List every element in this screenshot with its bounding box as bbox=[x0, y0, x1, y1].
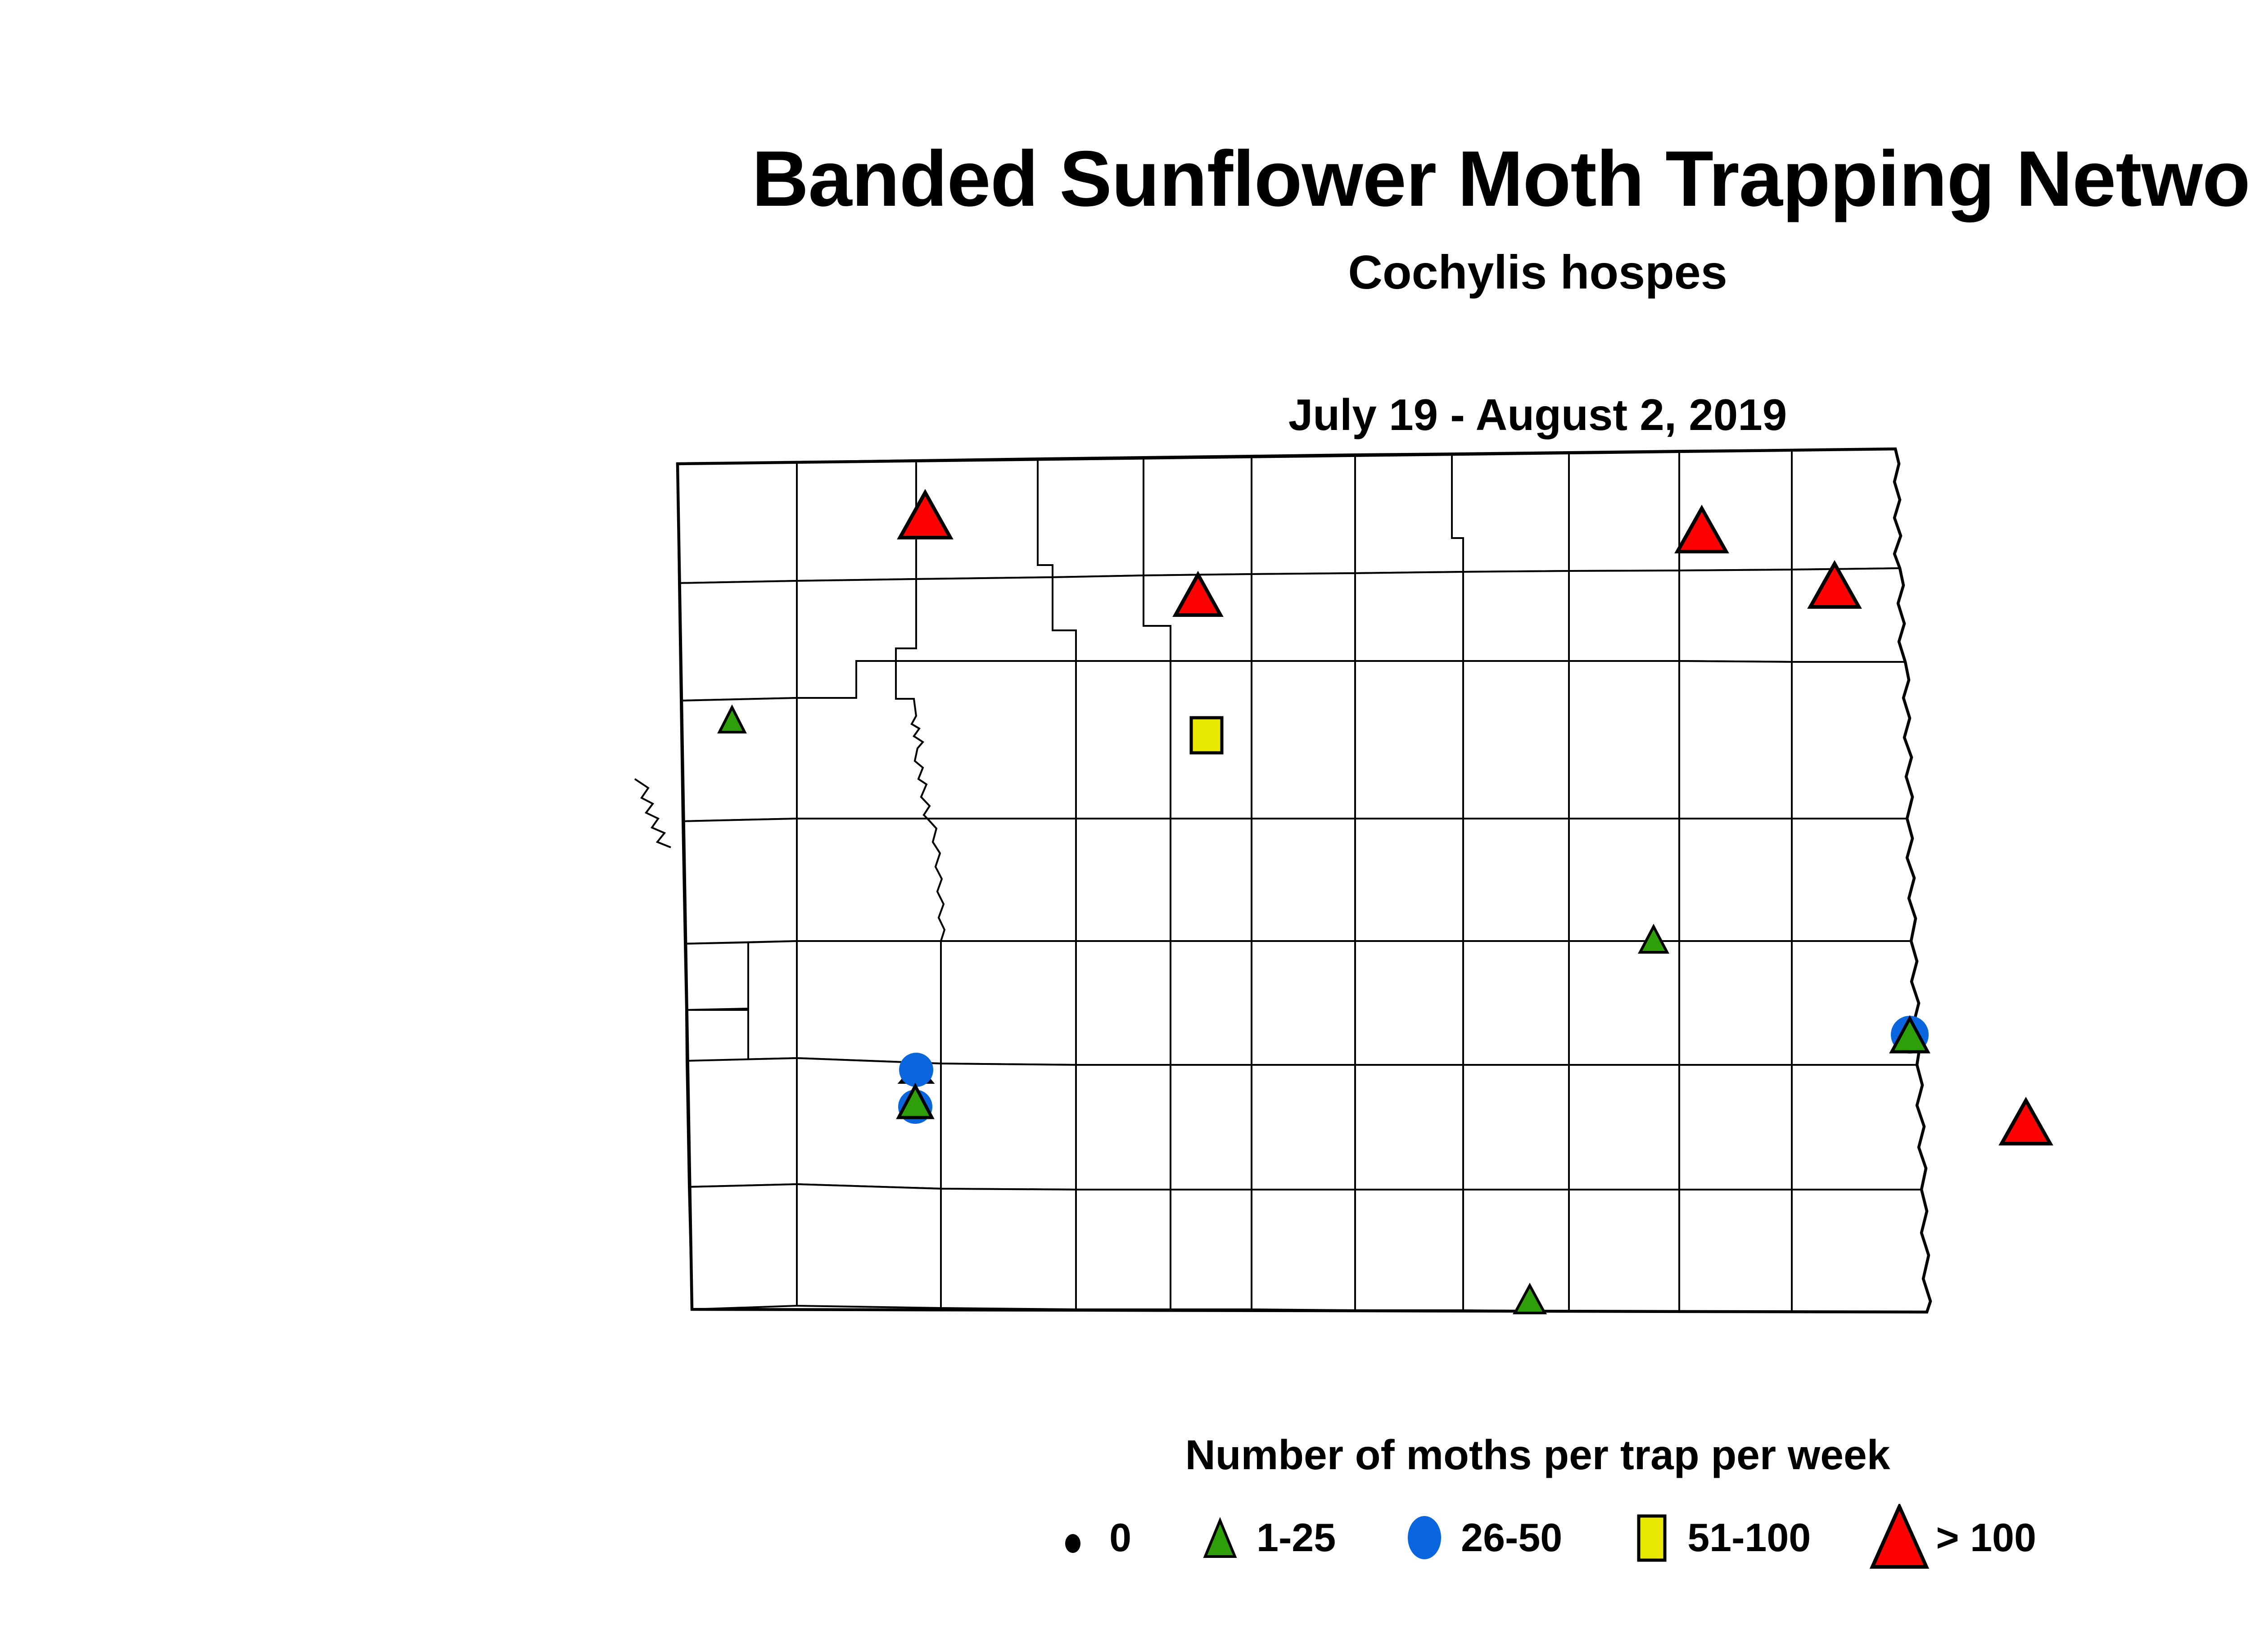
triangle-large-icon bbox=[1866, 1504, 1933, 1571]
legend-item-over-100[interactable]: > 100 bbox=[1866, 1504, 2036, 1571]
trap-marker-yellow-central[interactable] bbox=[1189, 716, 1224, 755]
north-dakota-county-map bbox=[581, 446, 2165, 1418]
poster-canvas: Banded Sunflower Moth Trapping Network C… bbox=[0, 0, 2251, 1652]
triangle-small-icon bbox=[1186, 1515, 1254, 1560]
legend-item-0[interactable]: 0 bbox=[1039, 1515, 1131, 1561]
species-name: Cochylis hospes bbox=[0, 249, 2251, 296]
legend-item-26-50[interactable]: 26-50 bbox=[1391, 1513, 1562, 1562]
trap-marker-red-nw[interactable] bbox=[898, 491, 952, 539]
square-icon bbox=[1617, 1512, 1685, 1563]
legend-title: Number of moths per trap per week bbox=[0, 1434, 2251, 1476]
page-title: Banded Sunflower Moth Trapping Network bbox=[0, 140, 2251, 218]
trap-marker-red-north-central[interactable] bbox=[1174, 573, 1222, 617]
trap-marker-green-east-central[interactable] bbox=[1639, 925, 1668, 954]
trap-marker-cluster-sw[interactable] bbox=[887, 1054, 945, 1144]
trap-marker-cluster-se[interactable] bbox=[1886, 1013, 1935, 1062]
legend-label-51-100: 51-100 bbox=[1687, 1515, 1811, 1561]
map-svg bbox=[581, 446, 2165, 1418]
river-detail bbox=[635, 779, 671, 847]
legend-label-26-50: 26-50 bbox=[1461, 1515, 1562, 1561]
legend: 0 1-25 26-50 51-100 > 100 bbox=[0, 1504, 2251, 1571]
trap-marker-red-se[interactable] bbox=[2000, 1099, 2052, 1145]
trap-marker-green-south[interactable] bbox=[1514, 1284, 1546, 1315]
trap-marker-red-ne-2[interactable] bbox=[1808, 562, 1861, 609]
legend-label-1-25: 1-25 bbox=[1257, 1515, 1336, 1561]
legend-label-0: 0 bbox=[1109, 1515, 1131, 1561]
county-polygons bbox=[678, 449, 1930, 1312]
date-range-label: July 19 - August 2, 2019 bbox=[0, 393, 2251, 437]
legend-label-over-100: > 100 bbox=[1936, 1515, 2036, 1561]
circle-icon bbox=[1391, 1513, 1458, 1562]
legend-item-51-100[interactable]: 51-100 bbox=[1617, 1512, 1811, 1563]
trap-marker-red-ne-1[interactable] bbox=[1676, 507, 1728, 553]
dot-icon bbox=[1039, 1522, 1107, 1553]
trap-marker-green-west[interactable] bbox=[718, 706, 746, 734]
legend-item-1-25[interactable]: 1-25 bbox=[1186, 1515, 1336, 1561]
